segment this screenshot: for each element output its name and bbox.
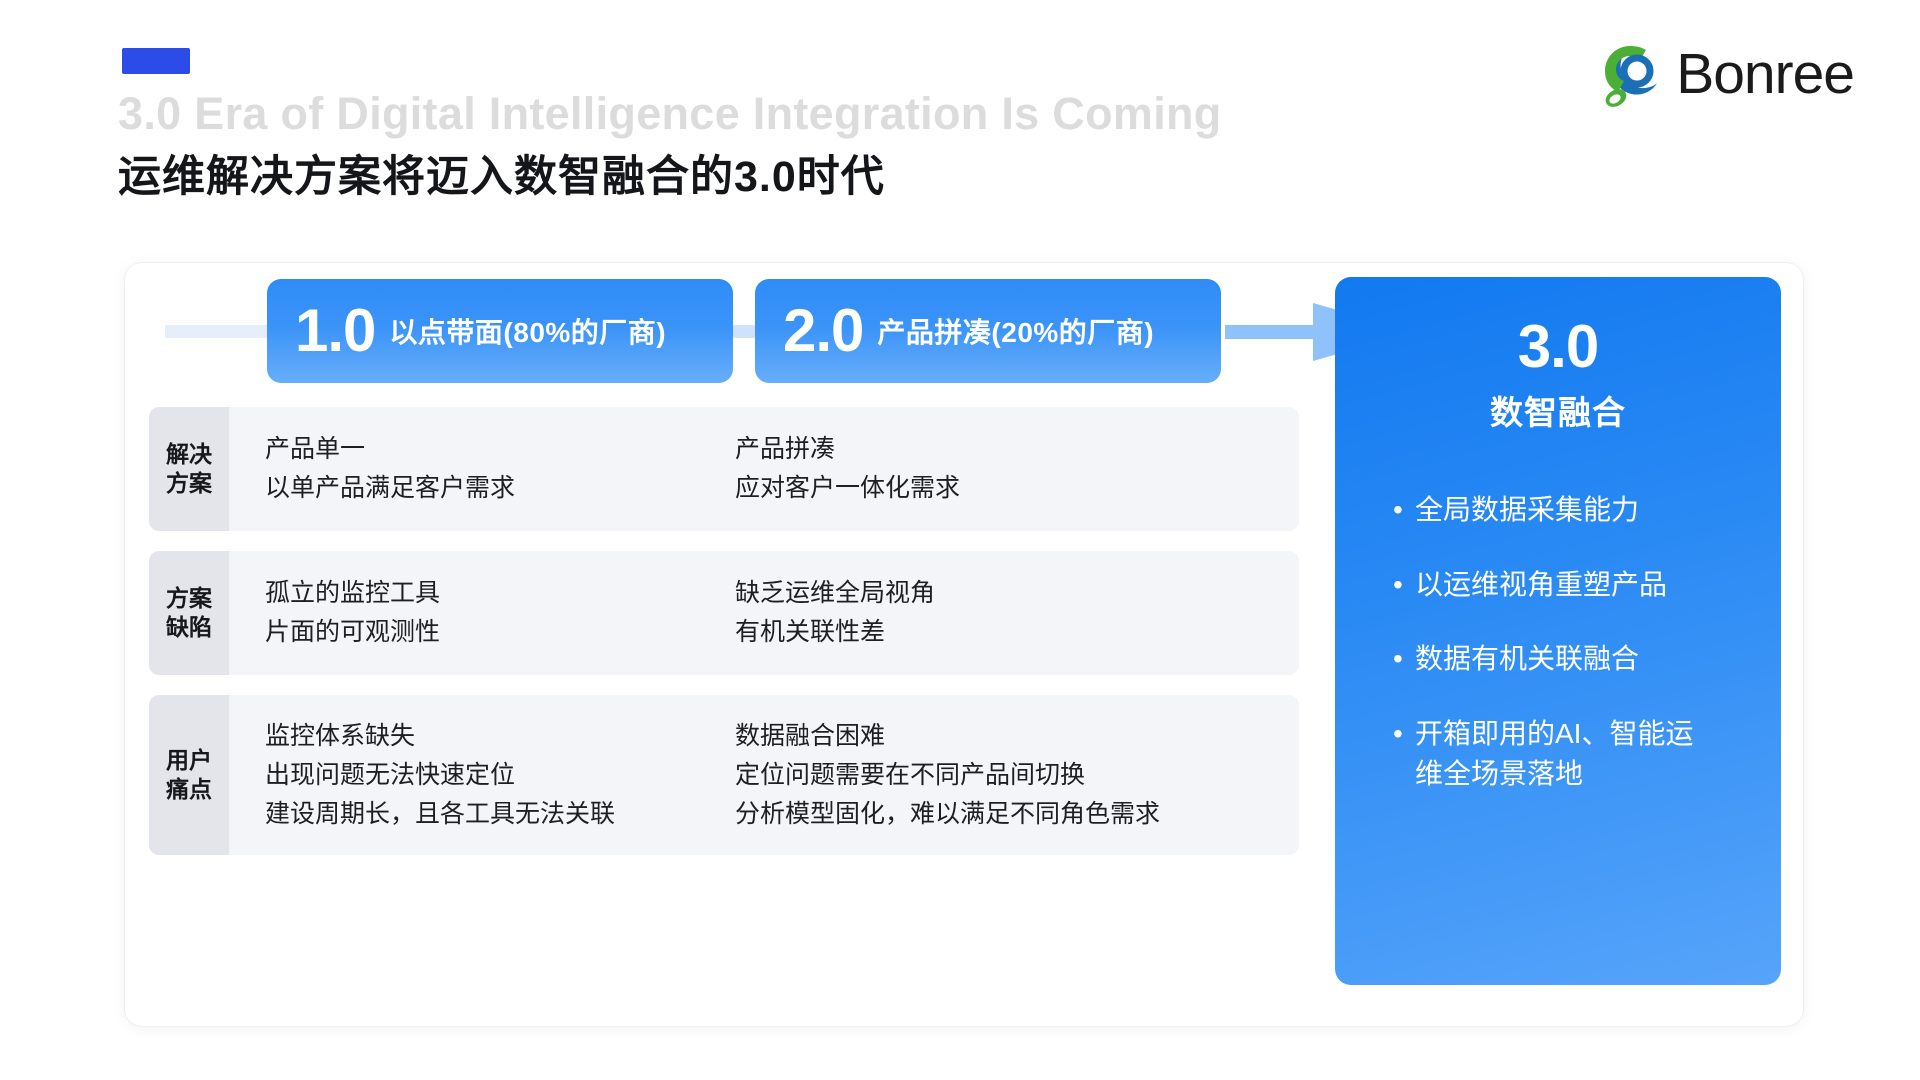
cell-1-0: 产品单一 以单产品满足客户需求 <box>265 430 735 508</box>
cell-line: 孤立的监控工具 <box>265 574 735 613</box>
cell-2-0: 孤立的监控工具 片面的可观测性 <box>265 574 735 652</box>
cell-line: 建设周期长，且各工具无法关联 <box>265 795 735 834</box>
stage-1-number: 1.0 <box>295 301 375 361</box>
cell-line: 出现问题无法快速定位 <box>265 756 735 795</box>
row-body-painpoint: 监控体系缺失 出现问题无法快速定位 建设周期长，且各工具无法关联 数据融合困难 … <box>229 695 1299 855</box>
table-row: 方案缺陷 孤立的监控工具 片面的可观测性 缺乏运维全局视角 有机关联性差 <box>149 551 1299 675</box>
row-label-solution: 解决方案 <box>149 407 229 531</box>
bonree-logo-icon <box>1596 38 1668 110</box>
cell-line: 以单产品满足客户需求 <box>265 469 735 508</box>
row-body-solution: 产品单一 以单产品满足客户需求 产品拼凑 应对客户一体化需求 <box>229 407 1299 531</box>
timeline-line-middle <box>733 325 755 338</box>
stage-badge-1[interactable]: 1.0 以点带面(80%的厂商) <box>267 279 733 383</box>
cell-line: 有机关联性差 <box>735 613 1205 652</box>
cell-line: 片面的可观测性 <box>265 613 735 652</box>
list-item: • 全局数据采集能力 <box>1393 490 1781 531</box>
stage-3-subtitle: 数智融合 <box>1335 386 1781 434</box>
row-label-painpoint-text: 用户痛点 <box>163 746 215 805</box>
cell-3-0: 监控体系缺失 出现问题无法快速定位 建设周期长，且各工具无法关联 <box>265 717 735 833</box>
cell-line: 产品拼凑 <box>735 430 1205 469</box>
timeline-line-left <box>165 325 273 338</box>
list-item-label: 开箱即用的AI、智能运 维全场景落地 <box>1415 714 1693 795</box>
cell-line: 定位问题需要在不同产品间切换 <box>735 756 1205 795</box>
row-label-solution-text: 解决方案 <box>163 440 215 499</box>
bonree-logo: Bonree <box>1596 38 1854 110</box>
bullet-icon: • <box>1393 565 1415 606</box>
bullet-icon: • <box>1393 714 1415 795</box>
list-item: • 以运维视角重塑产品 <box>1393 565 1781 606</box>
cell-line: 数据融合困难 <box>735 717 1205 756</box>
cell-line: 产品单一 <box>265 430 735 469</box>
accent-bar <box>122 48 190 74</box>
list-item-label: 全局数据采集能力 <box>1415 490 1639 531</box>
cell-line: 应对客户一体化需求 <box>735 469 1205 508</box>
row-body-defect: 孤立的监控工具 片面的可观测性 缺乏运维全局视角 有机关联性差 <box>229 551 1299 675</box>
slide-root: 3.0 Era of Digital Intelligence Integrat… <box>0 0 1920 1080</box>
stage-2-label: 产品拼凑(20%的厂商) <box>877 311 1154 351</box>
table-row: 解决方案 产品单一 以单产品满足客户需求 产品拼凑 应对客户一体化需求 <box>149 407 1299 531</box>
cell-2-1: 缺乏运维全局视角 有机关联性差 <box>735 574 1205 652</box>
comparison-matrix: 解决方案 产品单一 以单产品满足客户需求 产品拼凑 应对客户一体化需求 方案缺陷 <box>149 407 1299 875</box>
stage-2-number: 2.0 <box>783 301 863 361</box>
content-card: 1.0 以点带面(80%的厂商) 2.0 产品拼凑(20%的厂商) 解决方案 <box>124 262 1804 1027</box>
cell-3-1: 数据融合困难 定位问题需要在不同产品间切换 分析模型固化，难以满足不同角色需求 <box>735 717 1205 833</box>
list-item-label: 以运维视角重塑产品 <box>1415 565 1667 606</box>
row-label-defect: 方案缺陷 <box>149 551 229 675</box>
cell-line: 分析模型固化，难以满足不同角色需求 <box>735 795 1205 834</box>
stage-1-label: 以点带面(80%的厂商) <box>389 311 666 351</box>
stage-3-panel[interactable]: 3.0 数智融合 • 全局数据采集能力 • 以运维视角重塑产品 • 数据有机关联… <box>1335 277 1781 985</box>
cell-line: 缺乏运维全局视角 <box>735 574 1205 613</box>
page-title-chinese: 运维解决方案将迈入数智融合的3.0时代 <box>118 142 885 204</box>
cell-1-1: 产品拼凑 应对客户一体化需求 <box>735 430 1205 508</box>
page-title-english: 3.0 Era of Digital Intelligence Integrat… <box>118 88 1222 140</box>
stage-badge-2[interactable]: 2.0 产品拼凑(20%的厂商) <box>755 279 1221 383</box>
list-item: • 开箱即用的AI、智能运 维全场景落地 <box>1393 714 1781 795</box>
table-row: 用户痛点 监控体系缺失 出现问题无法快速定位 建设周期长，且各工具无法关联 数据… <box>149 695 1299 855</box>
row-label-painpoint: 用户痛点 <box>149 695 229 855</box>
bullet-icon: • <box>1393 639 1415 680</box>
stage-3-number: 3.0 <box>1335 315 1781 378</box>
cell-line: 监控体系缺失 <box>265 717 735 756</box>
row-label-defect-text: 方案缺陷 <box>163 584 215 643</box>
bullet-icon: • <box>1393 490 1415 531</box>
stage-3-feature-list: • 全局数据采集能力 • 以运维视角重塑产品 • 数据有机关联融合 • 开箱即用… <box>1335 490 1781 795</box>
list-item-label: 数据有机关联融合 <box>1415 639 1639 680</box>
bonree-wordmark: Bonree <box>1676 46 1854 103</box>
list-item: • 数据有机关联融合 <box>1393 639 1781 680</box>
